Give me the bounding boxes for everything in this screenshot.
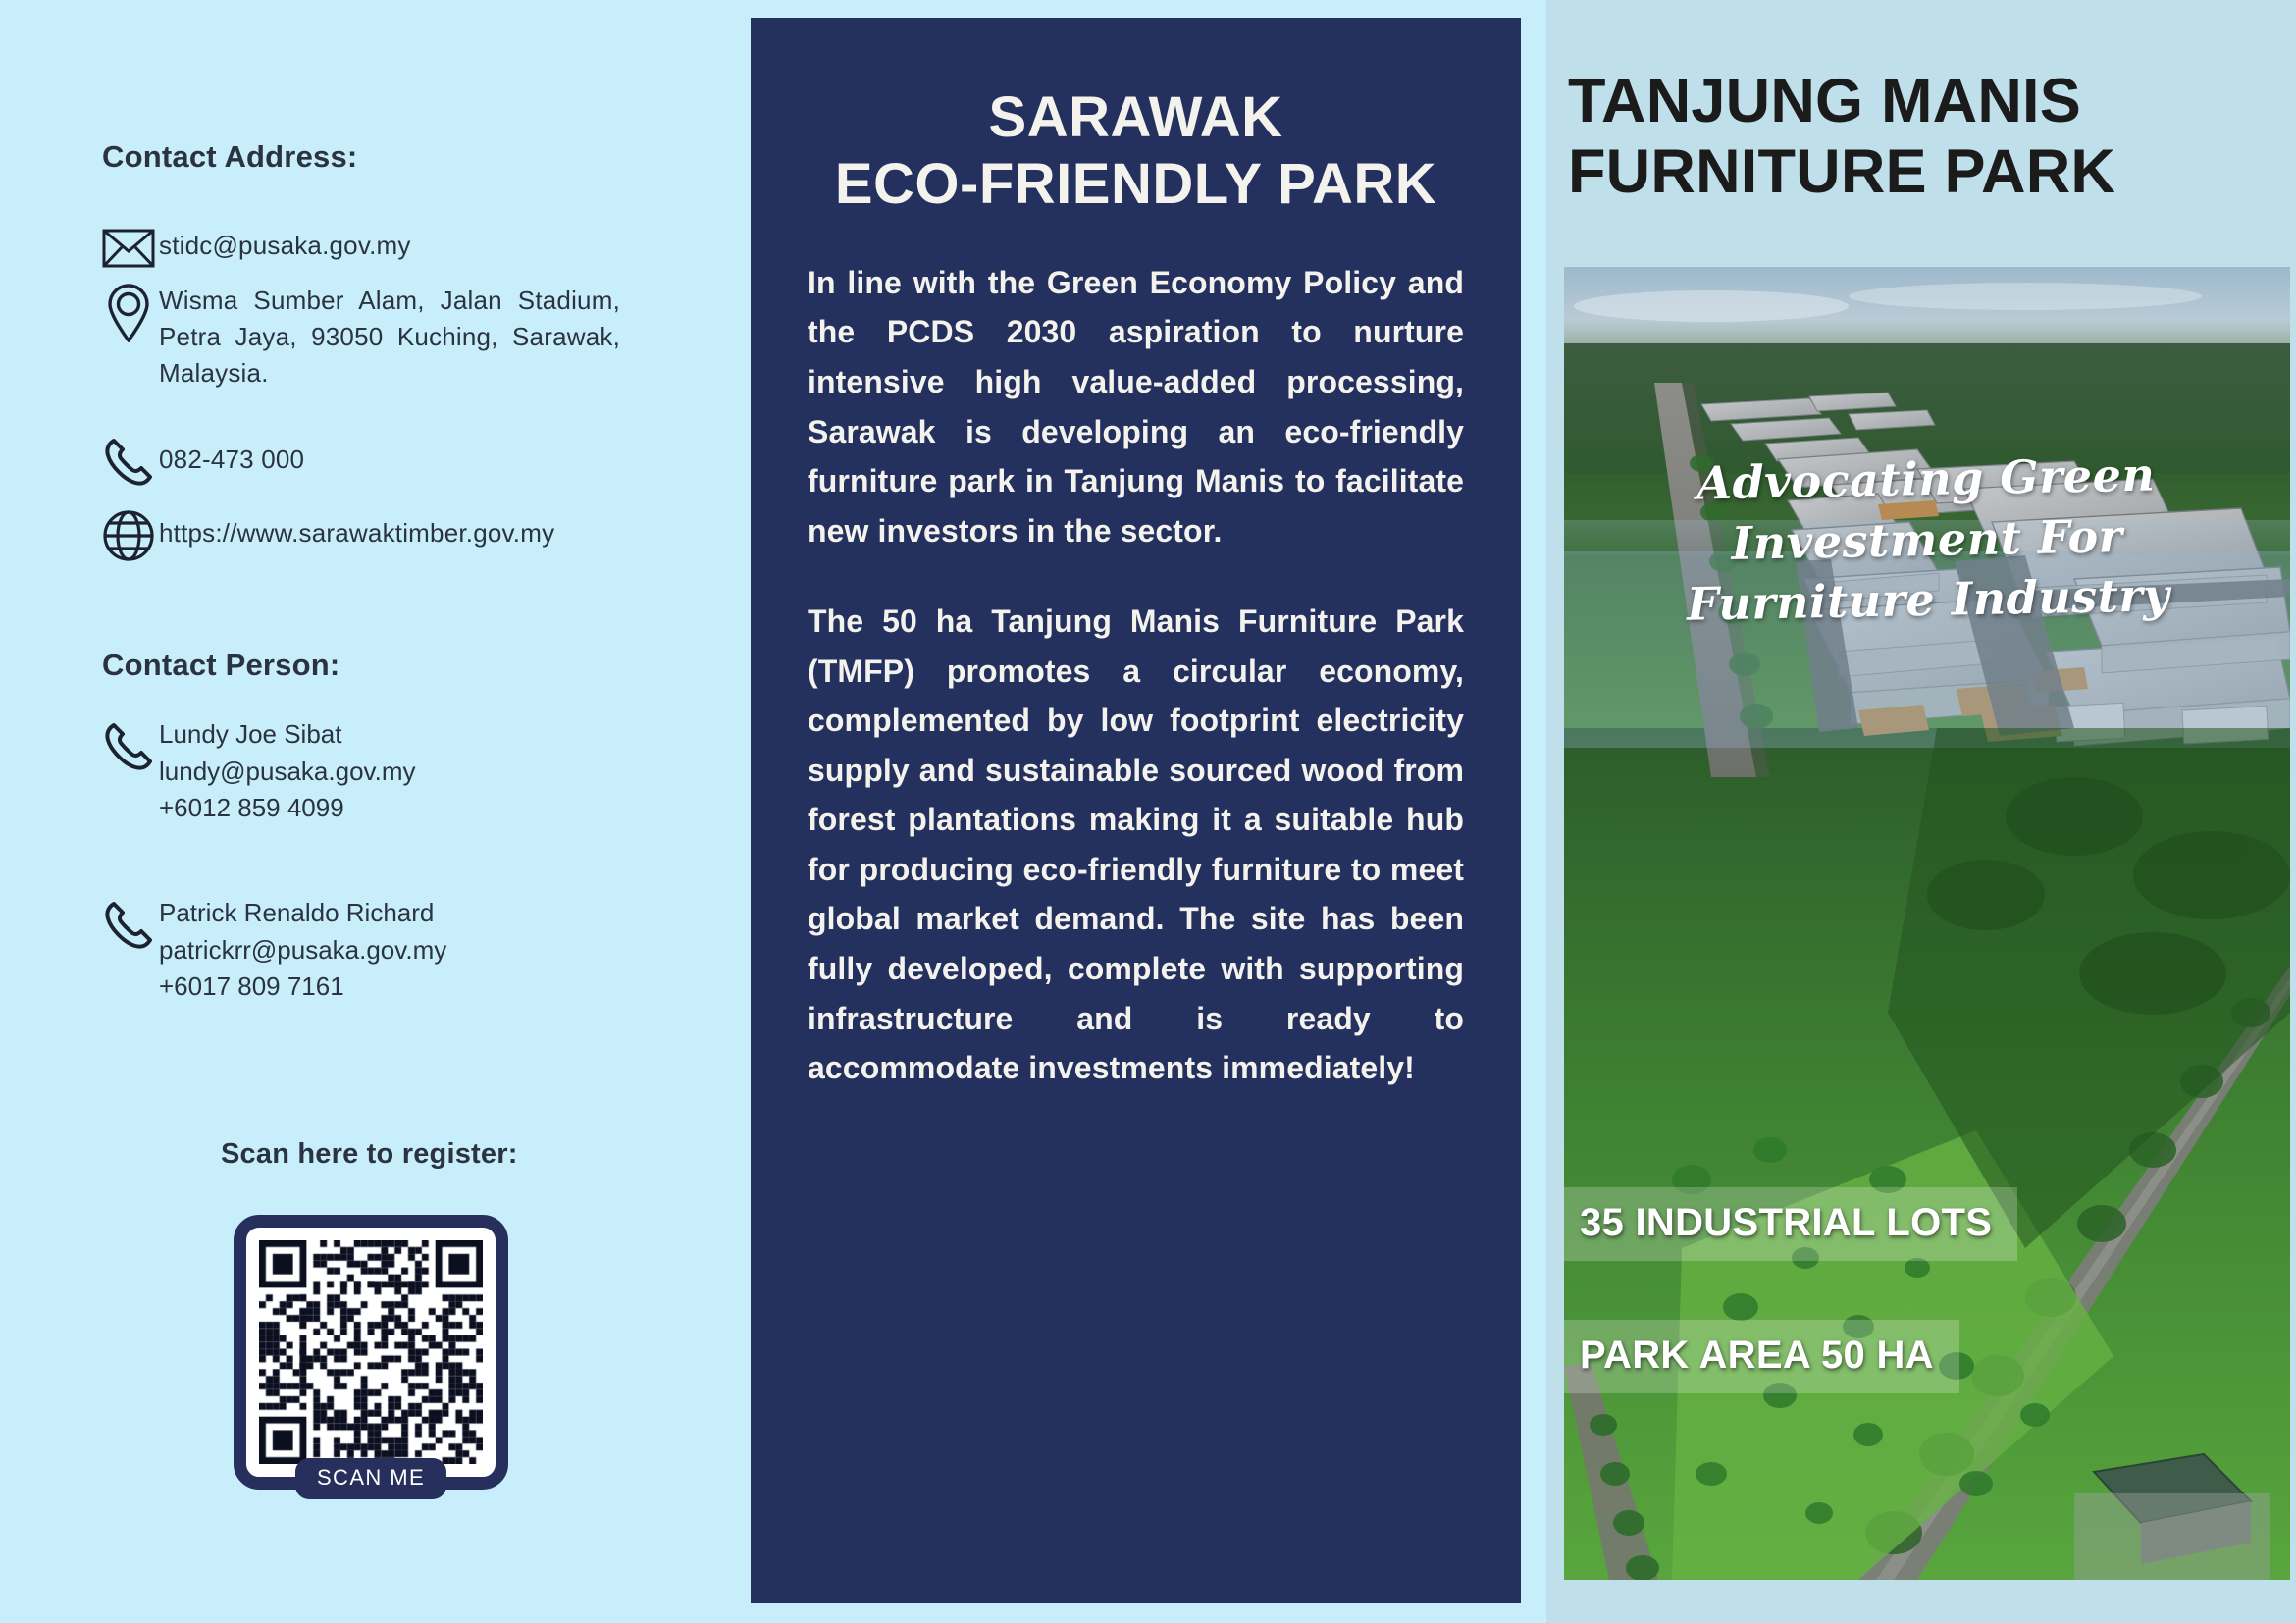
contact-address-heading: Contact Address: [102,139,357,175]
contact-row-website: https://www.sarawaktimber.gov.my [98,505,736,566]
location-pin-icon [98,283,159,343]
cover-panel: TANJUNG MANIS FURNITURE PARK [1546,0,2296,1623]
aerial-photo: Advocating Green Investment For Furnitur… [1564,267,2290,1580]
middle-paragraph-2: The 50 ha Tanjung Manis Furniture Park (… [808,597,1464,1092]
contact-person-2: Patrick Renaldo Richard patrickrr@pusaka… [98,895,726,1006]
contact-person-1: Lundy Joe Sibat lundy@pusaka.gov.my +601… [98,716,726,827]
phone-value[interactable]: 082-473 000 [159,432,304,478]
contact-panel: Contact Address: stidc@pusaka.gov.my Wis… [0,0,751,1623]
middle-title-line-1: SARAWAK [808,84,1464,151]
website-value[interactable]: https://www.sarawaktimber.gov.my [159,505,554,551]
description-panel: SARAWAK ECO-FRIENDLY PARK In line with t… [751,18,1521,1603]
address-value: Wisma Sumber Alam, Jalan Stadium, Petra … [159,283,620,392]
cover-title-line-1: TANJUNG MANIS [1568,67,2278,137]
cover-title: TANJUNG MANIS FURNITURE PARK [1568,67,2278,208]
industrial-lots-badge: 35 INDUSTRIAL LOTS [1564,1187,2017,1261]
phone-icon [98,895,159,956]
script-line-1: Advocating Green Investment For [1564,443,2290,577]
brochure-page: Contact Address: stidc@pusaka.gov.my Wis… [0,0,2296,1623]
person-2-mobile[interactable]: +6017 809 7161 [159,969,446,1006]
person-2-name: Patrick Renaldo Richard [159,895,446,932]
contact-row-email: stidc@pusaka.gov.my [98,218,687,279]
contact-row-phone: 082-473 000 [98,432,687,493]
person-1-mobile[interactable]: +6012 859 4099 [159,790,416,827]
globe-icon [98,505,159,566]
person-2-email[interactable]: patrickrr@pusaka.gov.my [159,932,446,969]
email-value[interactable]: stidc@pusaka.gov.my [159,218,411,264]
contact-row-address: Wisma Sumber Alam, Jalan Stadium, Petra … [98,283,706,392]
qr-code-image[interactable] [259,1240,483,1464]
middle-title: SARAWAK ECO-FRIENDLY PARK [808,84,1464,219]
person-1-name: Lundy Joe Sibat [159,716,416,754]
middle-paragraph-1: In line with the Green Economy Policy an… [808,258,1464,555]
cover-title-line-2: FURNITURE PARK [1568,137,2278,208]
scan-here-heading: Scan here to register: [221,1138,518,1171]
scan-me-badge: SCAN ME [295,1458,446,1499]
qr-code-block[interactable]: SCAN ME [234,1215,508,1490]
phone-icon [98,432,159,493]
middle-title-line-2: ECO-FRIENDLY PARK [808,151,1464,218]
phone-icon [98,716,159,777]
person-2-details: Patrick Renaldo Richard patrickrr@pusaka… [159,895,446,1006]
person-1-details: Lundy Joe Sibat lundy@pusaka.gov.my +601… [159,716,416,827]
envelope-icon [98,218,159,279]
park-area-badge: PARK AREA 50 HA [1564,1320,1959,1393]
qr-code-frame [234,1215,508,1490]
photo-script-tagline: Advocating Green Investment For Furnitur… [1564,443,2290,638]
contact-person-heading: Contact Person: [102,648,339,683]
person-1-email[interactable]: lundy@pusaka.gov.my [159,754,416,791]
